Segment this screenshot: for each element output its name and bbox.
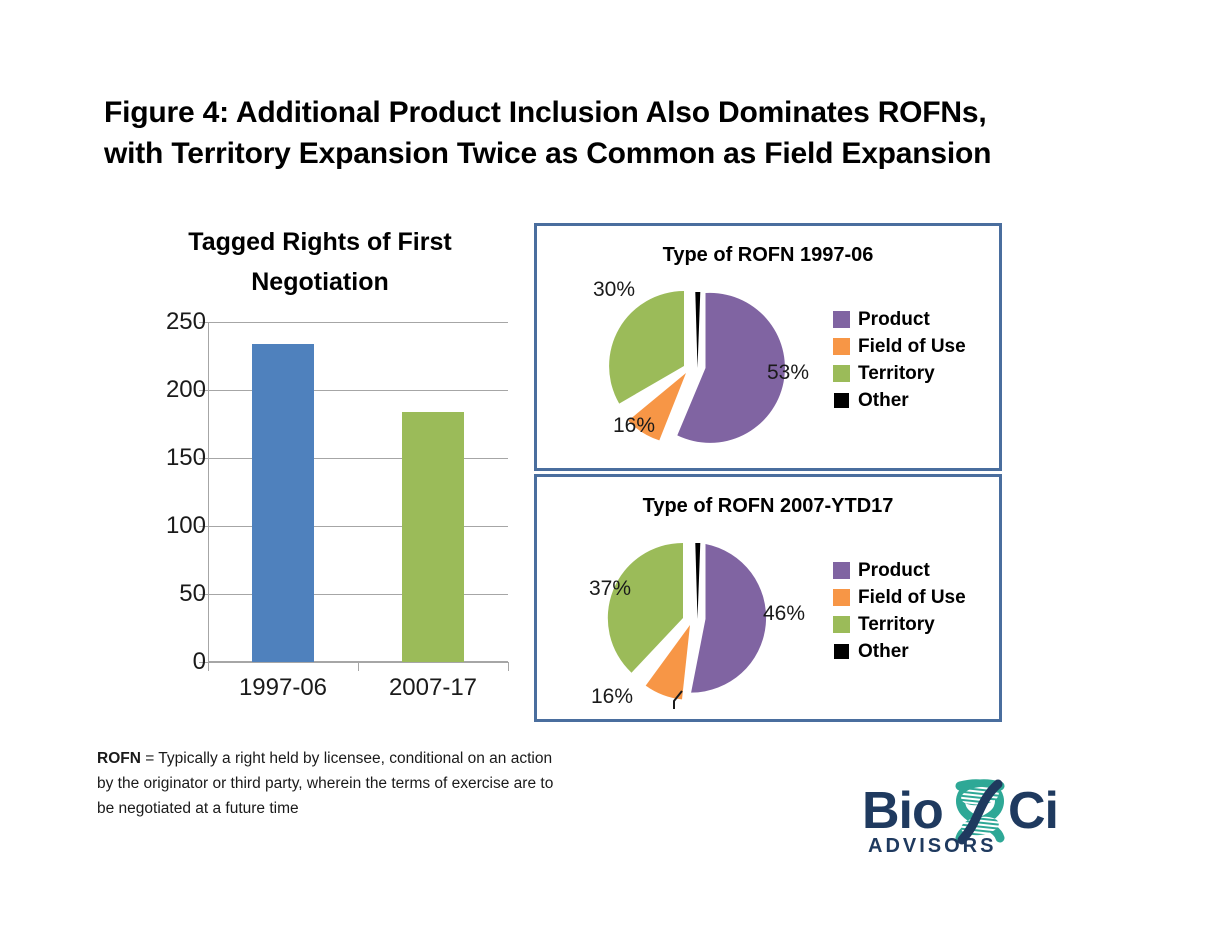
pie-1-label-territory: 30% — [593, 278, 635, 302]
bar-2007-17 — [402, 412, 464, 662]
legend-swatch-field-of-use-icon — [833, 589, 850, 606]
legend-swatch-field-of-use-icon — [833, 338, 850, 355]
pie-chart-2-title: Type of ROFN 2007-YTD17 — [537, 495, 999, 518]
legend-swatch-product-icon — [833, 311, 850, 328]
pie-2-slice-product — [691, 544, 766, 693]
legend-item-field-of-use: Field of Use — [833, 333, 983, 360]
legend-item-other: Other — [833, 387, 983, 414]
legend-swatch-other-icon — [834, 393, 849, 408]
x-tick-mark — [508, 662, 509, 671]
y-tick-label: 0 — [136, 648, 206, 676]
legend-swatch-territory-icon — [833, 616, 850, 633]
legend-item-field-of-use: Field of Use — [833, 584, 983, 611]
bar-1997-06 — [252, 344, 314, 662]
legend-label-field-of-use: Field of Use — [858, 587, 966, 609]
logo-text-ci: Ci — [1008, 782, 1058, 840]
pie-2-label-territory: 37% — [589, 577, 631, 601]
legend-label-territory: Territory — [858, 614, 935, 636]
bar-chart-title: Tagged Rights of First Negotiation — [120, 222, 520, 302]
y-tick-label: 200 — [136, 376, 206, 404]
x-tick-mark — [358, 662, 359, 671]
pie-panel-1997-06: Type of ROFN 1997-06 30% 53% 16% Product… — [534, 223, 1002, 471]
bar-chart-title-line-2: Negotiation — [251, 268, 389, 296]
legend-item-territory: Territory — [833, 611, 983, 638]
biosci-advisors-logo: Bio Ci ADVISORS — [862, 778, 1094, 860]
logo-text-bio: Bio — [862, 782, 943, 840]
x-tick-mark — [208, 662, 209, 671]
page-title-line-1: Figure 4: Additional Product Inclusion A… — [104, 92, 1114, 133]
legend-swatch-territory-icon — [833, 365, 850, 382]
legend-item-product: Product — [833, 557, 983, 584]
y-tick-label: 100 — [136, 512, 206, 540]
pie-2-label-field-of-use: 16% — [591, 685, 633, 709]
legend-item-territory: Territory — [833, 360, 983, 387]
pie-1-label-product: 53% — [767, 361, 809, 385]
pie-2-slice-other — [695, 543, 700, 619]
legend-label-other: Other — [858, 641, 909, 663]
legend-label-territory: Territory — [858, 363, 935, 385]
biosci-logo-svg: Bio Ci ADVISORS — [862, 778, 1094, 860]
logo-text-advisors: ADVISORS — [868, 835, 996, 857]
bar-chart-title-line-1: Tagged Rights of First — [188, 228, 451, 256]
footnote-text: = Typically a right held by licensee, co… — [97, 750, 553, 817]
x-tick-label: 1997-06 — [208, 674, 358, 702]
pie-2-label-product: 46% — [763, 602, 805, 626]
pie-panel-2007-ytd17: Type of ROFN 2007-YTD17 37% 46% 16% Prod… — [534, 474, 1002, 722]
legend-label-product: Product — [858, 309, 930, 331]
page-title-line-2: with Territory Expansion Twice as Common… — [104, 133, 1114, 174]
legend-label-other: Other — [858, 390, 909, 412]
logo-dna-helix-icon — [960, 784, 1000, 840]
footnote: ROFN = Typically a right held by license… — [97, 746, 567, 821]
y-tick-label: 250 — [136, 308, 206, 336]
bar-plot-area: 0501001502002501997-062007-17 — [208, 322, 508, 662]
footnote-term: ROFN — [97, 750, 141, 767]
legend-item-product: Product — [833, 306, 983, 333]
pie-1-slice-other — [695, 292, 700, 368]
x-tick-label: 2007-17 — [358, 674, 508, 702]
pie-chart-1-legend: Product Field of Use Territory Other — [833, 306, 983, 414]
page-title: Figure 4: Additional Product Inclusion A… — [104, 92, 1114, 175]
bar-chart: Tagged Rights of First Negotiation 05010… — [120, 222, 520, 712]
y-tick-label: 50 — [136, 580, 206, 608]
gridline — [208, 322, 508, 323]
legend-label-product: Product — [858, 560, 930, 582]
y-tick-label: 150 — [136, 444, 206, 472]
legend-label-field-of-use: Field of Use — [858, 336, 966, 358]
y-axis-line — [208, 322, 209, 662]
legend-swatch-product-icon — [833, 562, 850, 579]
legend-item-other: Other — [833, 638, 983, 665]
pie-chart-1-title: Type of ROFN 1997-06 — [537, 244, 999, 267]
pie-1-label-field-of-use: 16% — [613, 414, 655, 438]
legend-swatch-other-icon — [834, 644, 849, 659]
pie-chart-2-legend: Product Field of Use Territory Other — [833, 557, 983, 665]
